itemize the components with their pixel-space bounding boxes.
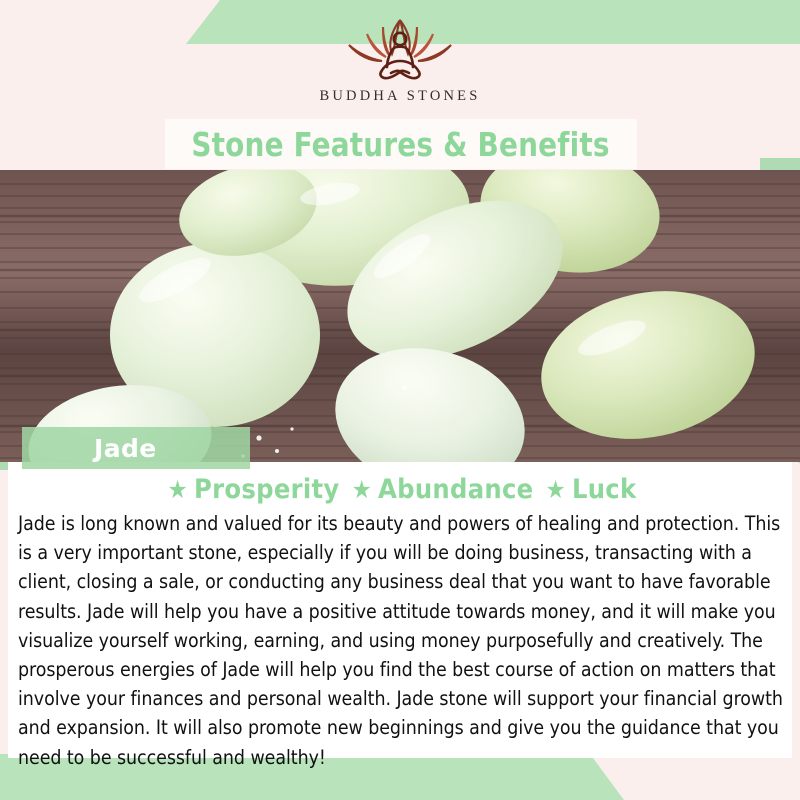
brand-logo: BUDDHA STONES — [0, 14, 800, 105]
star-icon: ★ — [545, 475, 565, 504]
star-icon: ★ — [168, 475, 188, 504]
page-title: Stone Features & Benefits — [192, 125, 610, 164]
keyword-abundance: Abundance — [378, 474, 533, 505]
stone-photo — [0, 170, 800, 462]
keyword-luck: Luck — [572, 474, 637, 505]
star-icon: ★ — [352, 475, 372, 504]
stone-name-text: Jade — [94, 434, 157, 463]
stone-description: Jade is long known and valued for its be… — [18, 509, 786, 772]
keyword-prosperity: Prosperity — [194, 474, 340, 505]
stone-name-label: Jade — [22, 427, 250, 469]
title-banner: Stone Features & Benefits — [165, 119, 637, 169]
brand-name: BUDDHA STONES — [0, 88, 800, 105]
content-panel: ★Prosperity★Abundance★Luck Jade is long … — [8, 462, 792, 758]
jade-stones-image — [0, 170, 800, 462]
lotus-meditation-icon — [325, 14, 475, 84]
product-infographic-page: BUDDHA STONES — [0, 0, 800, 800]
